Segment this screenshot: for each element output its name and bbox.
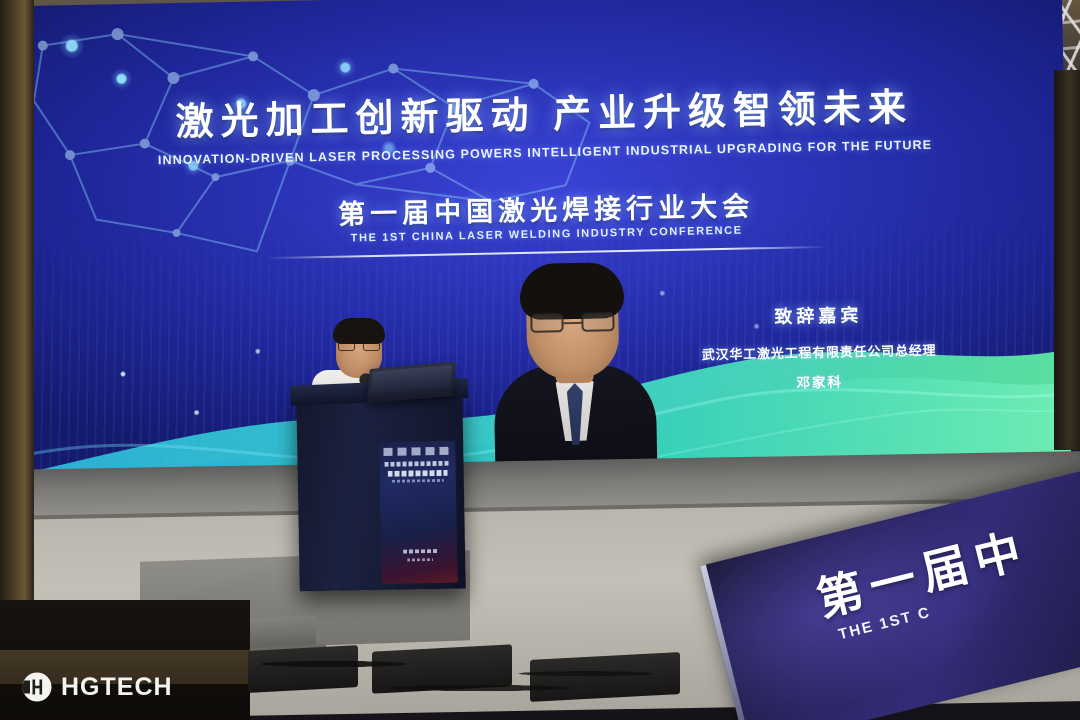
led-screen-background: 激光加工创新驱动 产业升级智领未来 INNOVATION-DRIVEN LASE… — [22, 0, 1072, 506]
title-divider — [267, 246, 827, 259]
hgtech-brand-text: HGTECH — [61, 675, 173, 700]
podium-subtitle-line — [388, 470, 448, 477]
podium-footer-subline — [407, 558, 433, 561]
floor-cables — [250, 640, 670, 720]
podium-footer-line — [403, 549, 437, 554]
portrait-glasses-icon — [530, 312, 614, 334]
speaker-organization: 武汉华工激光工程有限责任公司总经理 — [669, 339, 969, 364]
screen-text-content: 激光加工创新驱动 产业升级智领未来 INNOVATION-DRIVEN LASE… — [22, 0, 1072, 506]
led-screen: 激光加工创新驱动 产业升级智领未来 INNOVATION-DRIVEN LASE… — [22, 0, 1072, 506]
wall-column-left — [0, 0, 34, 600]
speaker-role-label: 致辞嘉宾 — [668, 299, 968, 331]
hgtech-watermark: HGTECH — [22, 672, 173, 702]
podium-title-line — [384, 461, 450, 467]
podium-sponsor-logos — [383, 447, 451, 456]
speaker-caption: 致辞嘉宾 武汉华工激光工程有限责任公司总经理 邓家科 — [668, 299, 970, 394]
podium-subtitle-en-line — [392, 479, 444, 483]
podium — [296, 391, 465, 592]
speaker-portrait — [489, 259, 659, 472]
presenter-glasses-icon — [338, 342, 380, 352]
wall-column-right — [1054, 70, 1080, 450]
presenter-hair — [333, 318, 385, 344]
hgtech-logo-icon — [22, 672, 52, 702]
podium-branding-panel — [379, 441, 457, 584]
speaker-name: 邓家科 — [670, 368, 970, 394]
conference-scene: 激光加工创新驱动 产业升级智领未来 INNOVATION-DRIVEN LASE… — [0, 0, 1080, 720]
main-title-cn: 激光加工创新驱动 产业升级智领未来 — [175, 76, 914, 146]
